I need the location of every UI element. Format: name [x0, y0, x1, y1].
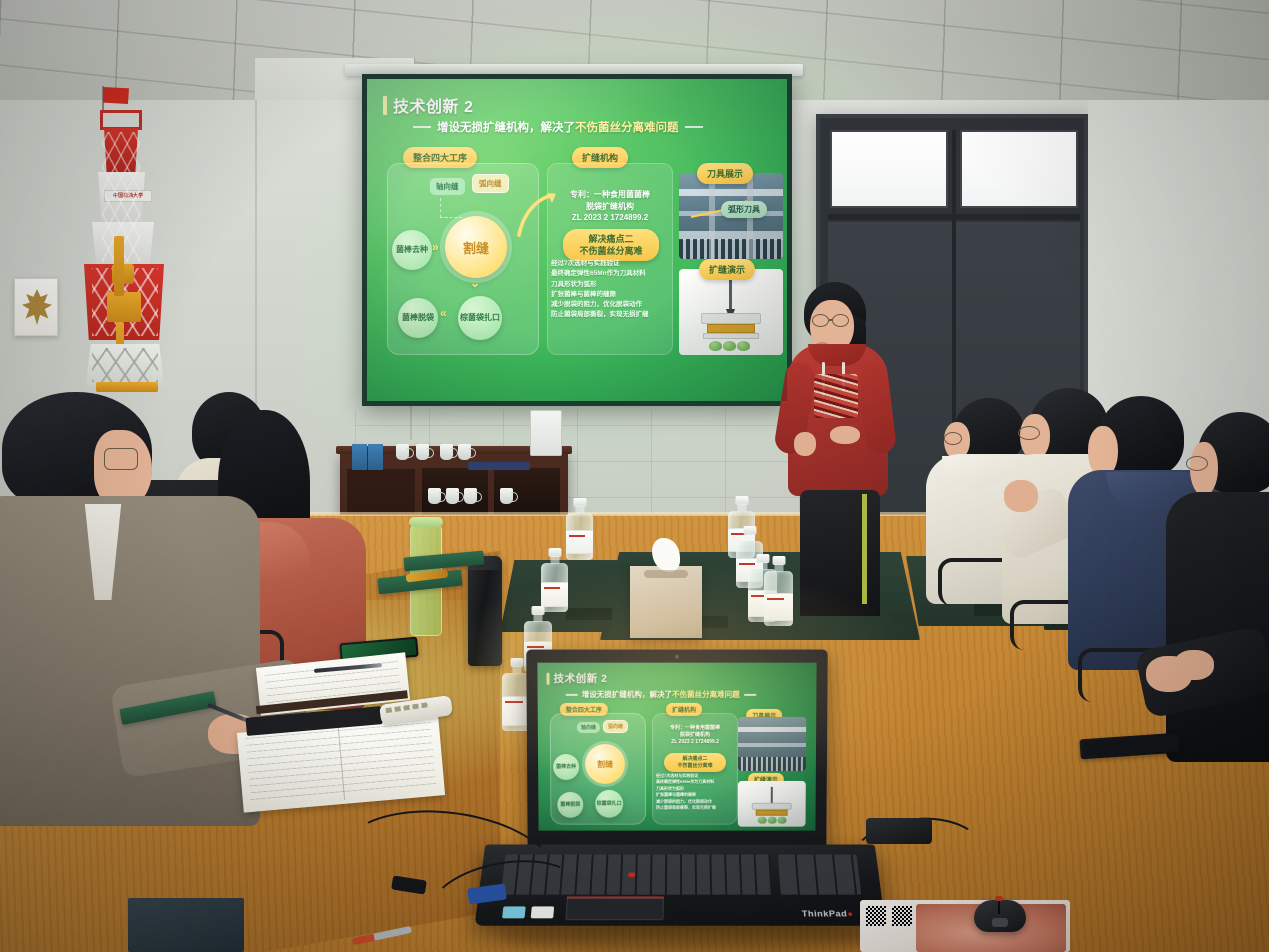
- curved-arrow-icon: [517, 191, 559, 237]
- laptop-bullet: 防止菌袋局部撕裂，实现无损扩缝: [656, 805, 736, 811]
- transom-window-right: [960, 130, 1078, 208]
- hand: [1004, 480, 1038, 512]
- teacup: [446, 488, 459, 504]
- demo-photo: [679, 269, 783, 355]
- glasses-icon: [832, 314, 849, 327]
- slide-subtitle: 增设无损扩缝机构，解决了不伤菌丝分离难问题: [413, 119, 787, 135]
- mousepad: [860, 900, 1070, 952]
- pill-tool-callout: 弧形刀具: [721, 201, 767, 218]
- patent-text: 专利：一种食用菌菌棒 脱袋扩缝机构 ZL 2023 2 1724899.2: [549, 189, 671, 224]
- leaf-artwork: [14, 278, 58, 336]
- teacup: [464, 488, 477, 504]
- title-accent-bar: [383, 96, 387, 115]
- teacup-on-top: [458, 444, 471, 460]
- tag-axial-seam: 轴向缝: [430, 178, 465, 195]
- arrow-down-icon: ⌄: [470, 276, 480, 290]
- papers: [128, 898, 244, 952]
- bullet-item: 减少脱袋的阻力，优化脱袋动作: [551, 300, 671, 310]
- bullet-list: 经过7次选材与实践验证 最终确定弹性65Mn作为刀具材料 刀具形状为弧形 扩张菌…: [551, 259, 671, 321]
- transom-window-left: [830, 130, 948, 208]
- blue-folder: [352, 444, 367, 470]
- arrow-right-icon: »: [432, 240, 439, 254]
- meeting-room-photo: 中国石油大学 技术创新 2 增设无损扩缝机构，解决了不伤菌丝分离难问题 整: [0, 0, 1269, 952]
- bullet-item: 防止菌袋局部撕裂，实现无损扩缝: [551, 310, 671, 320]
- patent-line-2: 脱袋扩缝机构: [549, 201, 671, 213]
- pain-point-text: 解决痛点二 不伤菌丝分离难: [579, 234, 642, 256]
- teacup-on-top: [416, 444, 429, 460]
- patent-line-3: ZL 2023 2 1724899.2: [549, 212, 671, 224]
- tag-arc-seam: 弧向缝: [472, 174, 509, 193]
- slide-title-bar: 技术创新 2: [383, 93, 473, 117]
- glasses-icon: [104, 448, 138, 470]
- glasses-icon: [944, 432, 962, 445]
- glasses-icon: [1186, 456, 1208, 471]
- hand-right: [830, 426, 860, 444]
- teacup-on-top: [396, 444, 409, 460]
- subtitle-dash-right: [685, 126, 703, 128]
- touchpad[interactable]: [565, 898, 664, 920]
- bullet-item: 经过7次选材与实践验证: [551, 259, 671, 269]
- pill-demo: 扩缝演示: [699, 259, 755, 280]
- qr-code: [866, 906, 886, 926]
- bullet-item: 扩张菌棒与菌棒的缝隙: [551, 290, 671, 300]
- flow-node-degerm: 菌棒去种: [392, 230, 432, 270]
- bullet-item: 最终确定弹性65Mn作为刀具材料: [551, 269, 671, 279]
- teacup: [500, 488, 513, 504]
- subtitle-dash-left: [413, 126, 431, 128]
- hand-left: [794, 432, 816, 456]
- slide-title: 技术创新 2: [393, 93, 473, 117]
- teacup: [428, 488, 441, 504]
- oil-derrick-model: 中国石油大学: [62, 86, 222, 426]
- subtitle-text: 增设无损扩缝机构，解决了不伤菌丝分离难问题: [437, 119, 679, 135]
- patent-line-1: 专利：一种食用菌菌棒: [549, 189, 671, 201]
- blue-folder: [368, 444, 383, 470]
- sanitizer-dispenser: [530, 410, 562, 456]
- pill-tool-display: 刀具展示: [697, 163, 753, 184]
- cabinet-blue-cloth: [468, 462, 530, 470]
- bullet-item: 刀具形状为弧形: [551, 280, 671, 290]
- usb-hub: [866, 818, 932, 844]
- teacup-on-top: [440, 444, 453, 460]
- flow-node-debag: 菌棒脱袋: [398, 298, 438, 338]
- slide-content: 技术创新 2 增设无损扩缝机构，解决了不伤菌丝分离难问题 整合四大工序 轴向缝 …: [367, 79, 787, 401]
- trackpoint-icon[interactable]: [628, 873, 635, 877]
- laptop-brand-logo: ThinkPad●: [802, 909, 854, 918]
- arrow-left-icon: «: [440, 306, 447, 320]
- pill-pain-point: 解决痛点二 不伤菌丝分离难: [563, 229, 659, 261]
- qr-code: [892, 906, 912, 926]
- flow-node-tie: 棕菌袋扎口: [458, 296, 502, 340]
- computer-mouse[interactable]: [974, 900, 1026, 932]
- glasses-icon: [812, 314, 829, 327]
- water-bottle: [566, 498, 593, 560]
- projection-screen: 技术创新 2 增设无损扩缝机构，解决了不伤菌丝分离难问题 整合四大工序 轴向缝 …: [362, 74, 792, 406]
- hand: [1174, 650, 1214, 680]
- flow-node-center: 割缝: [445, 216, 507, 278]
- hoodie-graphic: [814, 374, 858, 418]
- red-flag-icon: [103, 87, 129, 104]
- glasses-icon: [1018, 426, 1040, 440]
